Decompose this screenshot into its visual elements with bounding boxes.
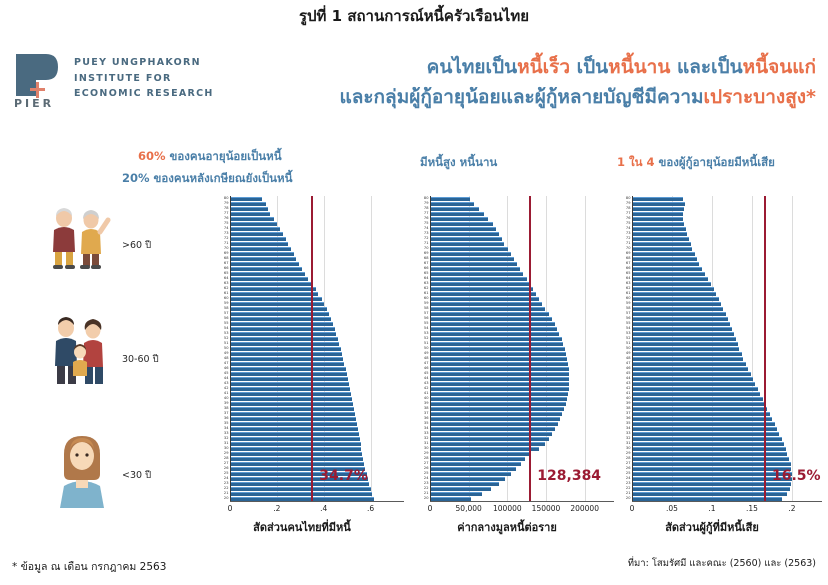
x-axis-tick-label: 0 [630,504,635,513]
y-axis-tick-label: 24 [626,476,631,480]
y-axis-tick-label: 43 [626,381,631,385]
bar [633,247,692,251]
y-axis-tick-label: 28 [626,456,631,460]
y-axis-tick-label: 20 [224,496,229,500]
headline-line-2: และกลุ่มผู้กู้อายุน้อยและผู้กู้หลายบัญชี… [226,82,816,112]
bar [633,422,775,426]
bar [431,362,568,366]
y-axis-tick-label: 52 [626,336,631,340]
bar [633,297,719,301]
bar [231,337,338,341]
bar [231,342,339,346]
y-axis-tick-label: 44 [626,376,631,380]
y-axis-tick-label: 20 [626,496,631,500]
x-axis-tick-label: 50,000 [456,504,482,513]
y-axis-tick-label: 42 [626,386,631,390]
bar [231,452,362,456]
y-axis-tick-label: 21 [224,491,229,495]
bar [431,352,566,356]
y-axis-tick-label: 72 [224,236,229,240]
y-axis-tick-label: 54 [626,326,631,330]
bar [231,417,356,421]
bar [633,252,695,256]
bar [431,197,470,201]
bar [633,267,702,271]
y-axis-tick-label: 50 [424,346,429,350]
y-axis-tick-label: 61 [224,291,229,295]
bar [431,287,533,291]
bar [231,252,294,256]
bar [633,367,748,371]
y-axis-tick-label: 51 [626,341,631,345]
figure-title: รูปที่ 1 สถานการณ์หนี้ครัวเรือนไทย [0,4,828,28]
y-axis-tick-label: 79 [626,201,631,205]
bar [231,282,312,286]
y-axis-tick-label: 62 [626,286,631,290]
bar [431,227,496,231]
bar [633,232,687,236]
bar [633,487,790,491]
y-axis-tick-label: 66 [626,266,631,270]
logo-line-2: INSTITUTE FOR [74,71,214,87]
y-axis-tick-label: 76 [424,216,429,220]
y-axis-tick-label: 29 [424,451,429,455]
x-axis-tick-label: 150000 [532,504,561,513]
y-axis-tick-label: 29 [626,451,631,455]
bar [633,227,686,231]
y-axis-tick-label: 64 [424,276,429,280]
bar [431,382,569,386]
chart-panel-1: 8079787776757473727170696867666564636261… [204,196,400,536]
bar [633,442,784,446]
y-axis-tick-label: 68 [424,256,429,260]
bar [431,437,549,441]
bar [431,307,545,311]
bar [431,252,511,256]
y-axis-tick-label: 67 [626,261,631,265]
bar [231,432,359,436]
y-axis-tick-label: 66 [424,266,429,270]
y-axis-tick-label: 71 [224,241,229,245]
y-axis-tick-label: 25 [224,471,229,475]
y-axis-tick-label: 23 [424,481,429,485]
x-axis-tick-label: .1 [708,504,715,513]
bar [431,292,536,296]
y-axis-tick-label: 64 [224,276,229,280]
y-axis-tick-label: 75 [224,221,229,225]
y-axis-tick-label: 77 [626,211,631,215]
bar [231,392,351,396]
y-axis-tick-label: 23 [626,481,631,485]
y-axis-tick-label: 54 [224,326,229,330]
bar [431,447,539,451]
x-axis-line-3 [632,501,822,503]
y-axis-tick-label: 27 [626,461,631,465]
y-axis-tick-label: 73 [626,231,631,235]
x-axis-title-3: สัดส่วนผู้กู้ที่มีหนี้เสีย [606,518,818,536]
y-axis-tick-label: 29 [224,451,229,455]
y-axis-tick-label: 41 [224,391,229,395]
y-axis-tick-label: 51 [224,341,229,345]
y-axis-tick-label: 65 [224,271,229,275]
bar [231,332,336,336]
y-axis-tick-label: 37 [224,411,229,415]
bar [431,202,474,206]
y-axis-tick-label: 31 [224,441,229,445]
bar [231,422,357,426]
bar [231,377,348,381]
y-axis-tick-label: 59 [424,301,429,305]
y-axis-tick-label: 21 [626,491,631,495]
bar [431,397,567,401]
bar [231,237,286,241]
bar [431,462,521,466]
chart-panel-2: 8079787776757473727170696867666564636261… [404,196,610,536]
bar [231,372,347,376]
bar [431,422,558,426]
y-axis-tick-label: 42 [424,386,429,390]
bar [231,387,350,391]
y-axis-tick-label: 22 [424,486,429,490]
y-axis-tick-label: 34 [424,426,429,430]
y-axis-tick-label: 55 [224,321,229,325]
bar [431,477,505,481]
y-axis-tick-label: 30 [626,446,631,450]
logo-line-3: ECONOMIC RESEARCH [74,86,214,102]
reference-value-annotation: 128,384 [537,468,601,484]
y-axis-tick-label: 48 [626,356,631,360]
bar [431,312,549,316]
bar [633,347,739,351]
y-axis-tick-label: 54 [424,326,429,330]
chart-panel-3: 8079787776757473727170696867666564636261… [606,196,818,536]
bar [633,427,777,431]
y-axis-tick-label: 70 [424,246,429,250]
bar [231,257,296,261]
y-axis-tick-label: 72 [424,236,429,240]
y-axis-tick-label: 56 [626,316,631,320]
bar [431,457,525,461]
y-axis-tick-label: 80 [224,196,229,200]
y-axis-tick-label: 36 [626,416,631,420]
y-axis-tick-label: 41 [424,391,429,395]
bar [633,412,770,416]
bar [633,397,763,401]
y-axis-tick-label: 47 [626,361,631,365]
y-axis-tick-label: 22 [224,486,229,490]
bar [231,447,361,451]
y-axis-line-2 [430,196,431,501]
y-axis-tick-label: 78 [626,206,631,210]
bar [231,207,268,211]
plot-area-2: 8079787776757473727170696867666564636261… [430,196,604,501]
x-axis-tick-label: 200000 [570,504,599,513]
y-axis-tick-label: 49 [626,351,631,355]
y-axis-tick-label: 39 [424,401,429,405]
y-axis-tick-label: 38 [626,406,631,410]
bar [231,427,358,431]
y-axis-tick-label: 43 [224,381,229,385]
reference-value-annotation: 16.5% [772,468,821,484]
gridline [371,196,372,501]
y-axis-tick-label: 76 [224,216,229,220]
age-label-over-60: >60 ปี [122,238,151,253]
y-axis-tick-label: 70 [626,246,631,250]
panel1-caption-line2: 20% ของคนหลังเกษียณยังเป็นหนี้ [122,170,292,188]
bar [231,222,277,226]
bar [231,327,335,331]
x-axis-title-1: สัดส่วนคนไทยที่มีหนี้ [204,518,400,536]
y-axis-tick-label: 27 [424,461,429,465]
x-axis-tick-label: .4 [320,504,327,513]
bar [431,417,560,421]
y-axis-tick-label: 76 [626,216,631,220]
y-axis-tick-label: 49 [424,351,429,355]
bar [231,242,288,246]
y-axis-tick-label: 25 [626,471,631,475]
bar [633,257,697,261]
bar [633,417,772,421]
y-axis-tick-label: 74 [626,226,631,230]
pier-wordmark: PIER [14,97,54,110]
bar [231,267,302,271]
bar [231,367,346,371]
bar [231,402,353,406]
y-axis-tick-label: 72 [626,236,631,240]
reference-line [764,196,766,501]
bar [633,317,728,321]
bars-container-3: 8079787776757473727170696867666564636261… [632,196,812,501]
x-axis-tick-label: .6 [367,504,374,513]
reference-value-annotation: 34.7% [319,468,368,484]
bar [431,297,539,301]
bar [633,212,683,216]
bar [633,237,689,241]
bar [431,272,523,276]
y-axis-tick-label: 61 [626,291,631,295]
x-axis-tick-label: 0 [228,504,233,513]
bar [431,332,559,336]
bar [633,447,786,451]
bar [633,222,684,226]
bar [231,262,299,266]
source-citation: ที่มา: โสมรัศมี และคณะ (2560) และ (2563) [628,556,816,571]
y-axis-tick-label: 59 [224,301,229,305]
gridline [792,196,793,501]
y-axis-tick-label: 55 [424,321,429,325]
x-axis-tick-label: 0 [428,504,433,513]
bar [231,272,305,276]
y-axis-tick-label: 80 [626,196,631,200]
bar [231,232,283,236]
y-axis-tick-label: 79 [224,201,229,205]
bar [231,397,352,401]
y-axis-tick-label: 28 [224,456,229,460]
y-axis-tick-label: 67 [424,261,429,265]
bar [633,402,765,406]
plot-area-1: 8079787776757473727170696867666564636261… [230,196,394,501]
y-axis-tick-label: 53 [224,331,229,335]
y-axis-tick-label: 62 [424,286,429,290]
y-axis-tick-label: 36 [224,416,229,420]
bar [431,487,491,491]
bar [431,402,566,406]
y-axis-tick-label: 71 [424,241,429,245]
y-axis-tick-label: 36 [424,416,429,420]
age-label-30-60: 30-60 ปี [122,352,159,367]
y-axis-tick-label: 30 [224,446,229,450]
y-axis-tick-label: 34 [224,426,229,430]
y-axis-tick-label: 70 [224,246,229,250]
y-axis-tick-label: 68 [224,256,229,260]
bar [231,407,354,411]
young-woman-illustration [50,430,112,513]
bar [633,277,708,281]
y-axis-tick-label: 46 [224,366,229,370]
bar [633,362,746,366]
bar [231,247,291,251]
panel2-caption: มีหนี้สูง หนี้นาน [420,154,497,172]
y-axis-tick-label: 47 [224,361,229,365]
y-axis-tick-label: 65 [424,271,429,275]
y-axis-tick-label: 62 [224,286,229,290]
y-axis-tick-label: 74 [224,226,229,230]
bar [231,227,280,231]
bar [231,382,349,386]
bar [633,322,730,326]
bar [633,332,734,336]
y-axis-tick-label: 80 [424,196,429,200]
bar [431,302,542,306]
bar [231,202,266,206]
bars-container-2: 8079787776757473727170696867666564636261… [430,196,604,501]
bar [633,312,726,316]
bars-container-1: 8079787776757473727170696867666564636261… [230,196,394,501]
bar [431,242,504,246]
bar [231,442,361,446]
bar [231,352,342,356]
bar [633,467,791,471]
elderly-couple-illustration [46,202,108,277]
headline: คนไทยเป็นหนี้เร็ว เป็นหนี้นาน และเป็นหนี… [226,52,816,112]
bar [231,347,341,351]
bar [633,462,791,466]
bar [231,312,329,316]
plot-area-3: 8079787776757473727170696867666564636261… [632,196,812,501]
bar [431,342,563,346]
y-axis-tick-label: 31 [626,441,631,445]
bar [633,262,699,266]
bar [431,232,499,236]
pier-logo-text: PUEY UNGPHAKORN INSTITUTE FOR ECONOMIC R… [74,55,214,102]
y-axis-tick-label: 48 [224,356,229,360]
bar [633,207,684,211]
bar [431,212,484,216]
bar [231,457,363,461]
y-axis-tick-label: 71 [626,241,631,245]
bar [431,217,488,221]
y-axis-tick-label: 40 [626,396,631,400]
y-axis-tick-label: 38 [224,406,229,410]
bar [633,307,723,311]
y-axis-tick-label: 69 [626,251,631,255]
y-axis-line-1 [230,196,231,501]
y-axis-tick-label: 28 [424,456,429,460]
y-axis-tick-label: 23 [224,481,229,485]
bar [633,477,792,481]
bar [633,437,782,441]
bar [231,217,274,221]
bar [431,492,482,496]
y-axis-tick-label: 46 [626,366,631,370]
y-axis-tick-label: 74 [424,226,429,230]
bar [431,317,552,321]
x-axis-tick-label: .05 [666,504,678,513]
bar [633,432,779,436]
x-axis-line-2 [430,501,614,503]
y-axis-tick-label: 53 [626,331,631,335]
y-axis-tick-label: 53 [424,331,429,335]
y-axis-tick-label: 51 [424,341,429,345]
y-axis-tick-label: 35 [626,421,631,425]
x-axis-tick-label: .15 [746,504,758,513]
bar [633,302,721,306]
y-axis-tick-label: 60 [224,296,229,300]
bar [431,237,502,241]
y-axis-tick-label: 38 [424,406,429,410]
y-axis-tick-label: 52 [224,336,229,340]
y-axis-tick-label: 24 [424,476,429,480]
reference-line [311,196,313,501]
bar [431,277,527,281]
y-axis-tick-label: 50 [224,346,229,350]
bar [231,277,308,281]
y-axis-tick-label: 32 [626,436,631,440]
bar [231,437,360,441]
y-axis-tick-label: 57 [224,311,229,315]
y-axis-tick-label: 39 [626,401,631,405]
y-axis-tick-label: 45 [224,371,229,375]
panel1-caption-line1: 60% ของคนอายุน้อยเป็นหนี้ [138,148,282,166]
y-axis-tick-label: 66 [224,266,229,270]
bar [633,327,732,331]
y-axis-tick-label: 55 [626,321,631,325]
y-axis-tick-label: 75 [424,221,429,225]
y-axis-tick-label: 58 [626,306,631,310]
y-axis-tick-label: 57 [626,311,631,315]
bar [633,272,705,276]
y-axis-tick-label: 60 [626,296,631,300]
bar [633,372,751,376]
y-axis-tick-label: 69 [224,251,229,255]
y-axis-tick-label: 75 [626,221,631,225]
bar [633,217,683,221]
bar [231,412,355,416]
bar [633,387,758,391]
y-axis-tick-label: 45 [424,371,429,375]
bar [633,392,760,396]
y-axis-tick-label: 59 [626,301,631,305]
y-axis-tick-label: 44 [224,376,229,380]
x-axis-tick-label: .2 [788,504,795,513]
bar [431,377,569,381]
y-axis-tick-label: 61 [424,291,429,295]
y-axis-tick-label: 37 [424,411,429,415]
bar [431,372,569,376]
bar [231,292,318,296]
bar [633,337,736,341]
y-axis-tick-label: 56 [224,316,229,320]
